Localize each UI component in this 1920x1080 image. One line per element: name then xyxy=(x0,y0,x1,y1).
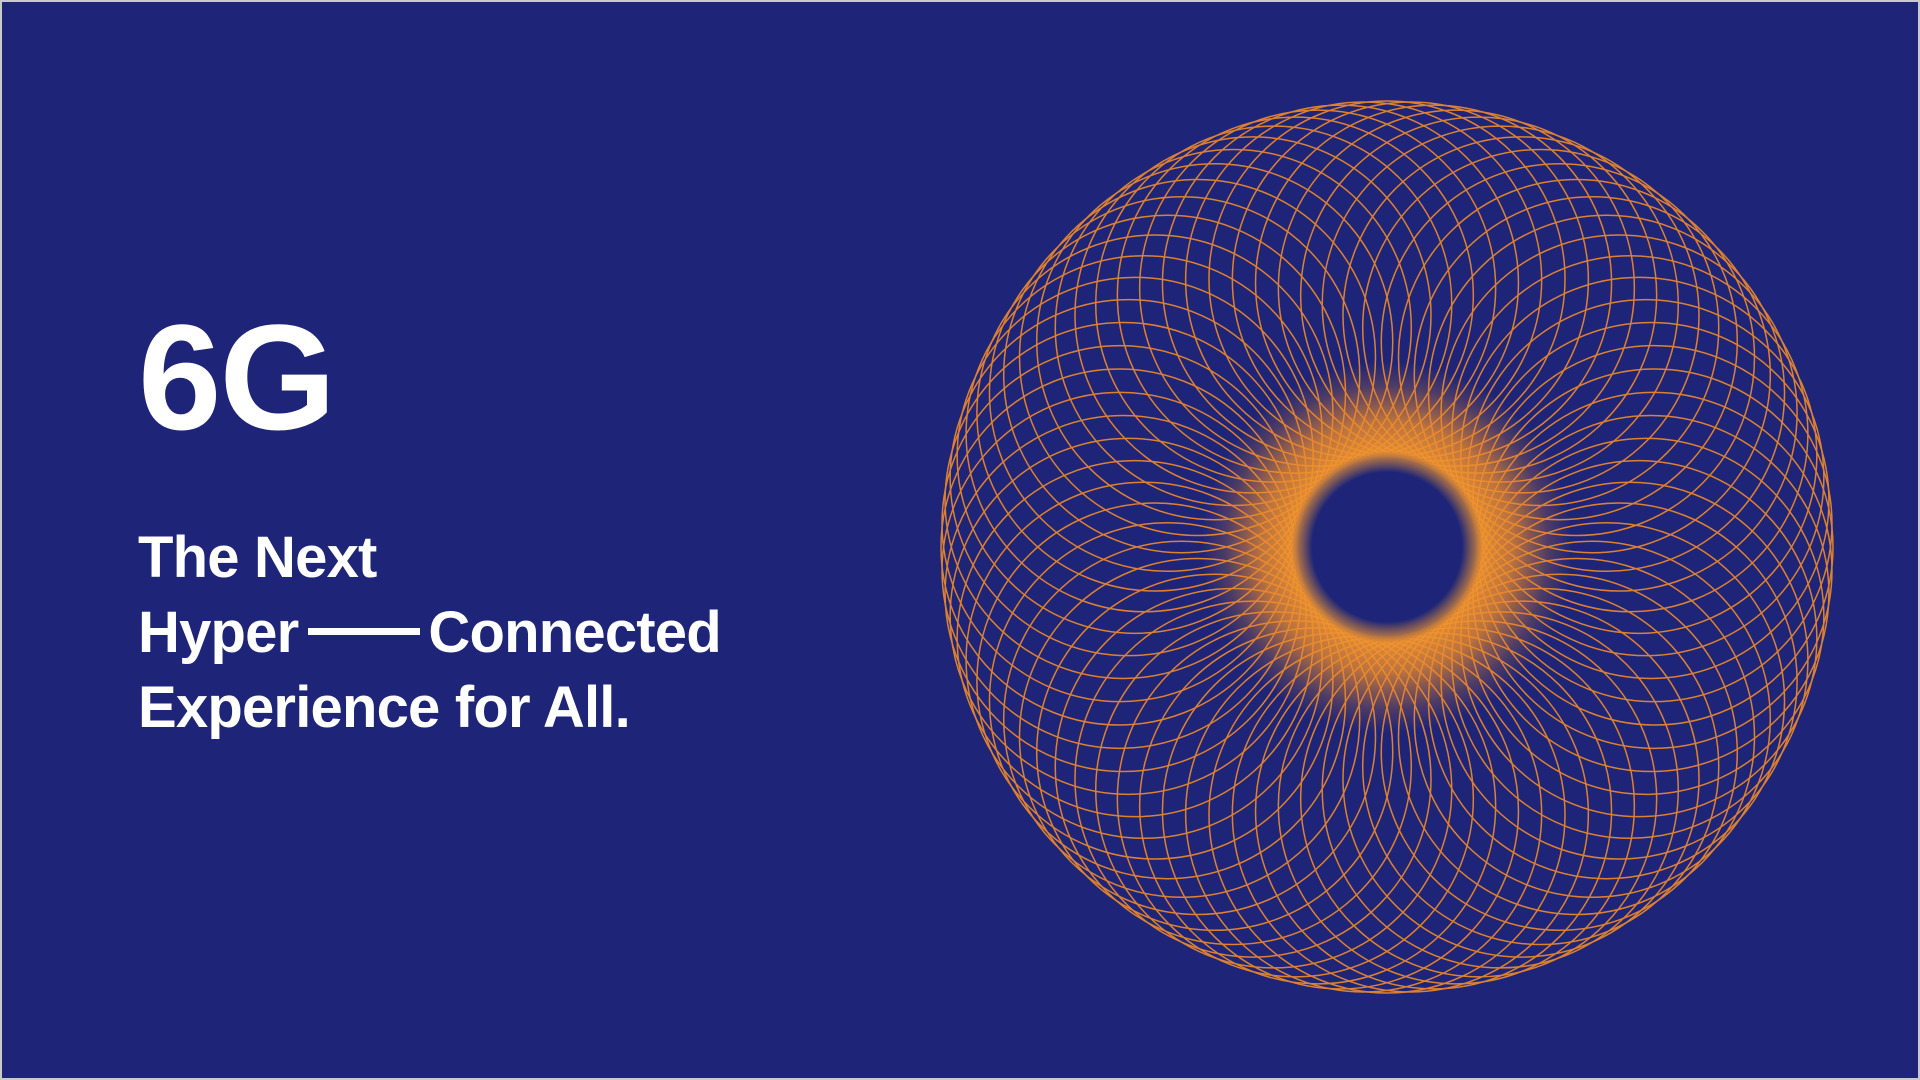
center-hole xyxy=(1291,451,1483,643)
spirograph-svg xyxy=(927,87,1847,1007)
text-block: 6G The Next HyperConnected Experience fo… xyxy=(138,302,838,745)
spirograph-graphic xyxy=(927,87,1847,1007)
tagline: The Next HyperConnected Experience for A… xyxy=(138,520,838,745)
page-title: 6G xyxy=(138,302,838,452)
key-visual-canvas: 6G The Next HyperConnected Experience fo… xyxy=(0,0,1920,1080)
tagline-line-1: The Next xyxy=(138,520,838,595)
tagline-line-2-after: Connected xyxy=(428,600,721,665)
tagline-line-3: Experience for All. xyxy=(138,670,838,745)
em-dash-rule-icon xyxy=(308,628,420,635)
tagline-line-2: HyperConnected xyxy=(138,595,838,670)
tagline-line-2-before: Hyper xyxy=(138,600,298,665)
